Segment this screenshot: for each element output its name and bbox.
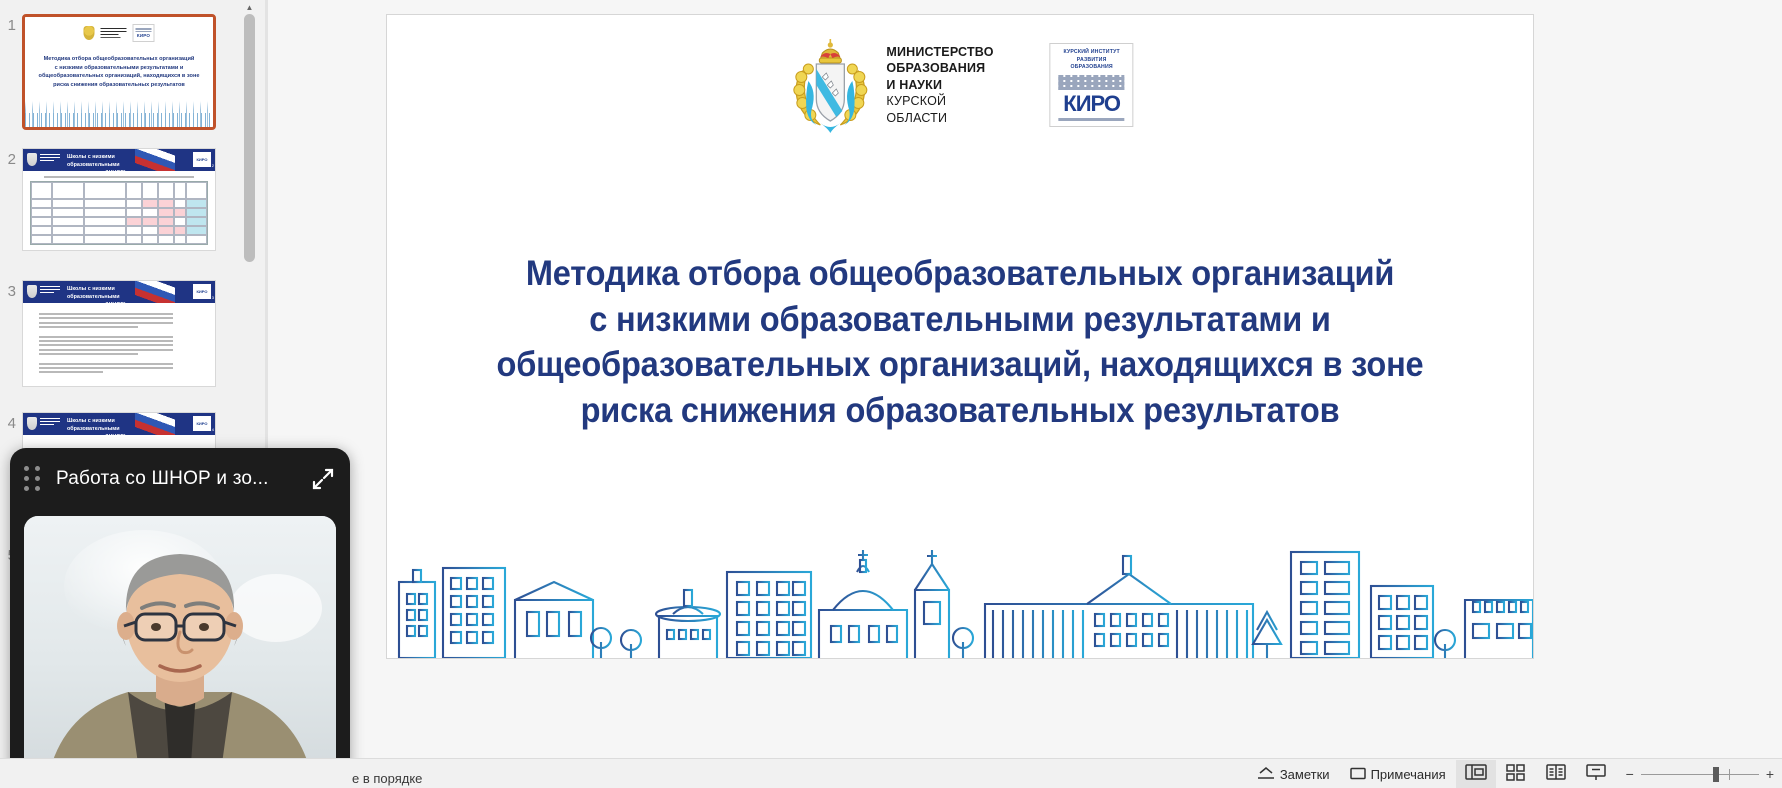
status-message: е в порядке <box>352 771 422 786</box>
title-line-3: общеобразовательных организаций, находящ… <box>487 342 1434 388</box>
zoom-in-button[interactable]: + <box>1766 766 1774 782</box>
ministry-line-1: МИНИСТЕРСТВО <box>886 44 993 61</box>
kiro-subtitle: КУРСКИЙ ИНСТИТУТ РАЗВИТИЯ ОБРАЗОВАНИЯ <box>1056 49 1128 72</box>
coat-of-arms-kursk-icon <box>27 417 37 430</box>
kiro-logo-icon: КИРО <box>193 416 211 431</box>
thumbnail-card[interactable]: Школы с низкими образовательными результ… <box>22 280 216 387</box>
text-line <box>39 367 173 369</box>
ministry-line-4: КУРСКОЙ <box>886 93 993 110</box>
text-line <box>39 371 103 373</box>
text-line <box>39 363 173 365</box>
coat-of-arms-kursk-icon <box>786 37 874 133</box>
presentation-window: 1 КИРО Методика отбора общеобразовательн… <box>0 0 1782 788</box>
text-line <box>39 353 138 355</box>
zoom-tick <box>1729 769 1730 780</box>
thumbnail-preview: Школы с низкими образовательными результ… <box>23 281 215 386</box>
notes-label: Заметки <box>1280 767 1330 782</box>
kiro-logo-icon: КИРО <box>193 284 211 299</box>
text-line <box>44 176 194 178</box>
thumbnail-number: 1 <box>0 14 22 130</box>
normal-view-button[interactable] <box>1456 760 1496 788</box>
text-line <box>39 336 173 338</box>
thumbnail-number: 3 <box>0 280 22 387</box>
expand-arrows-icon[interactable] <box>310 466 336 492</box>
thumbnail-card[interactable]: Школы с низкими образовательными результ… <box>22 148 216 251</box>
text-line <box>39 340 173 342</box>
participant-portrait <box>24 516 336 778</box>
kiro-grid-icon <box>1059 75 1125 91</box>
scroll-up-button[interactable]: ▲ <box>243 0 256 14</box>
video-panel-header[interactable]: Работа со ШНОР и зо... <box>10 448 350 510</box>
kiro-logo: КУРСКИЙ ИНСТИТУТ РАЗВИТИЯ ОБРАЗОВАНИЯ КИ… <box>1050 43 1134 127</box>
normal-view-icon <box>1465 763 1487 786</box>
title-line-2: с низкими образовательными результатами … <box>487 297 1434 343</box>
thumbnail-slide-1[interactable]: 1 КИРО Методика отбора общеобразовательн… <box>0 14 250 130</box>
title-line-1: Методика отбора общеобразовательных орга… <box>487 251 1434 297</box>
kiro-logo-icon: КИРО <box>193 152 211 167</box>
chevron-up-icon <box>1257 767 1275 781</box>
kursk-cityscape-line-art <box>387 538 1534 658</box>
video-call-panel[interactable]: Работа со ШНОР и зо... <box>10 448 350 788</box>
slide-banner: Школы с низкими образовательными результ… <box>23 149 215 171</box>
text-line <box>39 344 173 346</box>
kiro-wordmark: КИРО <box>1063 93 1120 115</box>
slide-page-number: 2 <box>212 163 214 168</box>
ministry-text-lines <box>40 154 60 161</box>
slide-title[interactable]: Методика отбора общеобразовательных орга… <box>487 251 1434 433</box>
thumbnail-body <box>23 303 215 386</box>
ribbon-flag-icon <box>135 413 175 435</box>
ministry-line-2: ОБРАЗОВАНИЯ <box>886 60 993 77</box>
slide-canvas-area[interactable]: МИНИСТЕРСТВО ОБРАЗОВАНИЯ И НАУКИ КУРСКОЙ… <box>268 0 1782 758</box>
video-panel-title: Работа со ШНОР и зо... <box>56 468 269 490</box>
thumbnail-card[interactable]: КИРО Методика отбора общеобразовательных… <box>22 14 216 130</box>
scrollbar-thumb[interactable] <box>244 14 255 262</box>
thumbnail-number: 2 <box>0 148 22 251</box>
slide-sorter-icon <box>1505 763 1527 786</box>
reading-view-button[interactable] <box>1536 760 1576 788</box>
kiro-logo-icon: КИРО <box>133 24 155 42</box>
title-line-4: риска снижения образовательных результат… <box>487 388 1434 434</box>
text-line <box>39 317 173 319</box>
coat-of-arms-kursk-icon <box>27 285 37 298</box>
cityscape-art-icon <box>25 101 213 127</box>
current-slide[interactable]: МИНИСТЕРСТВО ОБРАЗОВАНИЯ И НАУКИ КУРСКОЙ… <box>386 14 1534 659</box>
comments-button[interactable]: Примечания <box>1340 760 1456 788</box>
slide-banner: Школы с низкими образовательными результ… <box>23 413 215 435</box>
thumbnail-preview: КИРО Методика отбора общеобразовательных… <box>25 17 213 127</box>
text-line <box>39 313 173 315</box>
coat-of-arms-kursk-icon <box>84 26 95 40</box>
ministry-line-5: ОБЛАСТИ <box>886 110 993 127</box>
ribbon-flag-icon <box>135 149 175 171</box>
zoom-track[interactable] <box>1641 774 1759 775</box>
slide-banner: Школы с низкими образовательными результ… <box>23 281 215 303</box>
slide-page-number: 3 <box>212 295 214 300</box>
text-line <box>39 322 173 324</box>
thumbnail-slide-3[interactable]: 3 Школы с низкими образовательными резул… <box>0 280 250 387</box>
ministry-name: МИНИСТЕРСТВО ОБРАЗОВАНИЯ И НАУКИ КУРСКОЙ… <box>886 44 993 127</box>
ministry-line-3: И НАУКИ <box>886 77 993 94</box>
comment-box-icon <box>1350 767 1366 781</box>
slide-logo-row: МИНИСТЕРСТВО ОБРАЗОВАНИЯ И НАУКИ КУРСКОЙ… <box>786 37 1133 133</box>
text-line <box>39 349 173 351</box>
ministry-logo: МИНИСТЕРСТВО ОБРАЗОВАНИЯ И НАУКИ КУРСКОЙ… <box>786 37 993 133</box>
thumbnail-preview: Школы с низкими образовательными результ… <box>23 149 215 250</box>
notes-button[interactable]: Заметки <box>1247 760 1340 788</box>
thumbnail-logos: КИРО <box>84 24 155 42</box>
thumbnail-body <box>23 171 215 250</box>
slide-sorter-button[interactable] <box>1496 760 1536 788</box>
ministry-text-lines <box>40 418 60 425</box>
reading-view-icon <box>1545 763 1567 786</box>
webcam-video-feed[interactable] <box>24 516 336 778</box>
thumbnail-slide-2[interactable]: 2 Школы с низкими образовательными резул… <box>0 148 250 251</box>
slideshow-button[interactable] <box>1576 760 1616 788</box>
thumbnail-title: Методика отбора общеобразовательных орга… <box>35 55 203 90</box>
ministry-text-lines <box>40 286 60 293</box>
kiro-rule <box>1059 118 1125 121</box>
zoom-out-button[interactable]: − <box>1626 766 1634 782</box>
slide-page-number: 4 <box>212 427 214 432</box>
comments-label: Примечания <box>1371 767 1446 782</box>
status-bar-right-group: Заметки Примечания <box>1247 759 1774 788</box>
text-line <box>39 326 138 328</box>
data-table <box>30 181 208 245</box>
drag-handle-dots-icon[interactable] <box>24 466 42 492</box>
zoom-slider[interactable]: − + <box>1626 766 1774 782</box>
ministry-text-lines <box>101 28 127 38</box>
slideshow-icon <box>1585 763 1607 786</box>
status-bar: е в порядке Заметки Примечания <box>0 758 1782 788</box>
ribbon-flag-icon <box>135 281 175 303</box>
zoom-handle[interactable] <box>1713 767 1719 782</box>
coat-of-arms-kursk-icon <box>27 153 37 166</box>
